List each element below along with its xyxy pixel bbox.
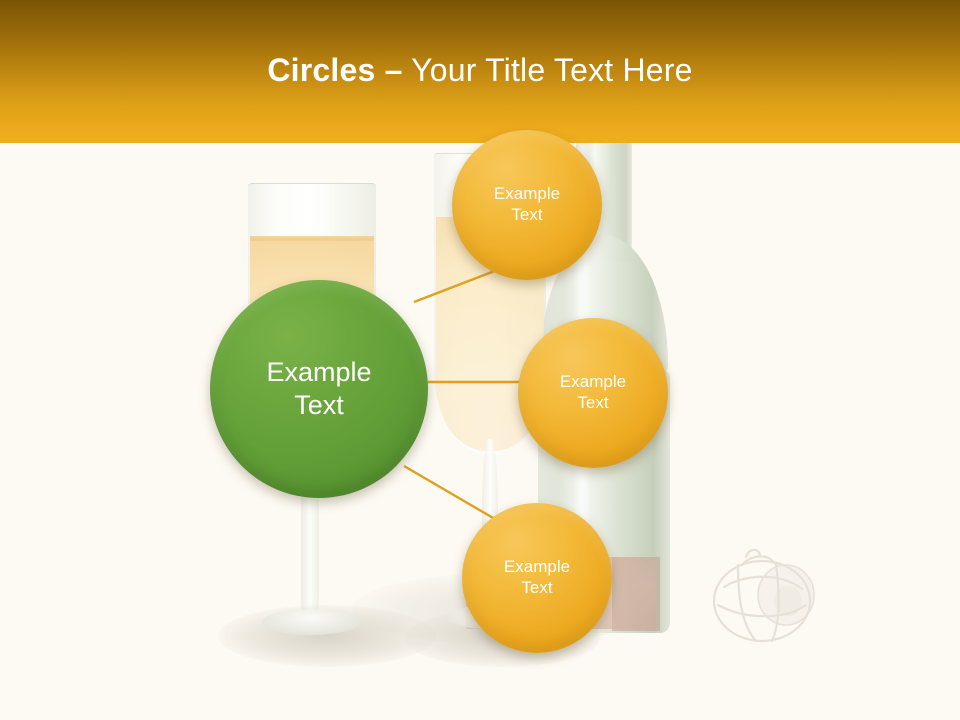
spoke-circle-middle-label-line2: Text xyxy=(577,393,608,414)
hub-circle[interactable]: Example Text xyxy=(210,280,428,498)
hub-circle-label-line2: Text xyxy=(294,389,344,422)
spoke-circle-top-label-line2: Text xyxy=(511,205,542,226)
hub-circle-label-line1: Example xyxy=(266,356,371,389)
presentation-slide: Circles – Your Title Text Here Example T… xyxy=(0,0,960,720)
spoke-circle-bottom-label-line2: Text xyxy=(521,578,552,599)
spoke-circle-middle[interactable]: Example Text xyxy=(518,318,668,468)
spoke-circle-top-label-line1: Example xyxy=(494,184,560,205)
connector-hub-to-bottom xyxy=(404,466,500,522)
spoke-circle-top[interactable]: Example Text xyxy=(452,130,602,280)
spoke-circle-middle-label-line1: Example xyxy=(560,372,626,393)
spoke-circle-bottom[interactable]: Example Text xyxy=(462,503,612,653)
spoke-circle-bottom-label-line1: Example xyxy=(504,557,570,578)
